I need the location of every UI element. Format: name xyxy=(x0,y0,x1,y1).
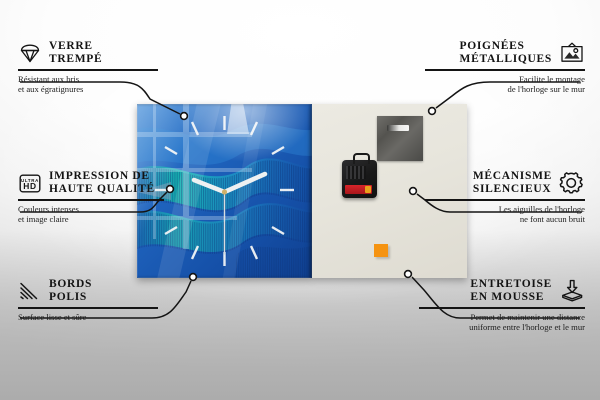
divider xyxy=(419,307,585,309)
feature-title: MÉCANISME SILENCIEUX xyxy=(473,170,552,196)
feature-title: BORDS POLIS xyxy=(49,278,92,304)
diamond-icon xyxy=(18,43,42,63)
polished-edge-icon xyxy=(18,281,42,301)
product-infographic: VERRE TREMPÉ Résistant aux bris et aux é… xyxy=(0,0,600,400)
divider xyxy=(18,199,164,201)
feature-mecanisme-silencieux: MÉCANISME SILENCIEUX Les aiguilles de l'… xyxy=(425,170,585,224)
feature-subtitle: Facilite le montage de l'horloge sur le … xyxy=(425,74,585,95)
feature-subtitle: Résistant aux bris et aux égratignures xyxy=(18,74,158,95)
feature-heading: VERRE TREMPÉ xyxy=(18,40,158,66)
feature-subtitle: Permet de maintenir une distance uniform… xyxy=(419,312,585,333)
picture-hanger-icon xyxy=(559,42,585,64)
feature-heading: ENTRETOISE EN MOUSSE xyxy=(419,278,585,304)
feature-heading: BORDS POLIS xyxy=(18,278,158,304)
feature-heading: ultra HD IMPRESSION DE HAUTE QUALITÉ xyxy=(18,170,164,196)
feature-subtitle: Surface lisse et sûre xyxy=(18,312,158,322)
feature-title: POIGNÉES MÉTALLIQUES xyxy=(460,40,552,66)
feature-subtitle: Les aiguilles de l'horloge ne font aucun… xyxy=(425,204,585,225)
divider xyxy=(18,69,158,71)
ultra-hd-large-label: HD xyxy=(23,181,37,191)
foam-spacer-icon xyxy=(559,279,585,303)
feature-bords-polis: BORDS POLIS Surface lisse et sûre xyxy=(18,278,158,322)
feature-heading: MÉCANISME SILENCIEUX xyxy=(425,170,585,196)
feature-heading: POIGNÉES MÉTALLIQUES xyxy=(425,40,585,66)
gear-icon xyxy=(559,171,585,195)
divider xyxy=(425,199,585,201)
divider xyxy=(18,307,158,309)
feature-title: ENTRETOISE EN MOUSSE xyxy=(470,278,552,304)
ultra-hd-icon: ultra HD xyxy=(18,173,42,194)
feature-title: VERRE TREMPÉ xyxy=(49,40,102,66)
feature-title: IMPRESSION DE HAUTE QUALITÉ xyxy=(49,170,155,196)
divider xyxy=(425,69,585,71)
feature-verre-trempe: VERRE TREMPÉ Résistant aux bris et aux é… xyxy=(18,40,158,94)
feature-poignees-metalliques: POIGNÉES MÉTALLIQUES Facilite le montage… xyxy=(425,40,585,94)
feature-entretoise-en-mousse: ENTRETOISE EN MOUSSE Permet de maintenir… xyxy=(419,278,585,332)
feature-subtitle: Couleurs intenses et image claire xyxy=(18,204,164,225)
feature-impression-haute-qualite: ultra HD IMPRESSION DE HAUTE QUALITÉ Cou… xyxy=(18,170,164,224)
